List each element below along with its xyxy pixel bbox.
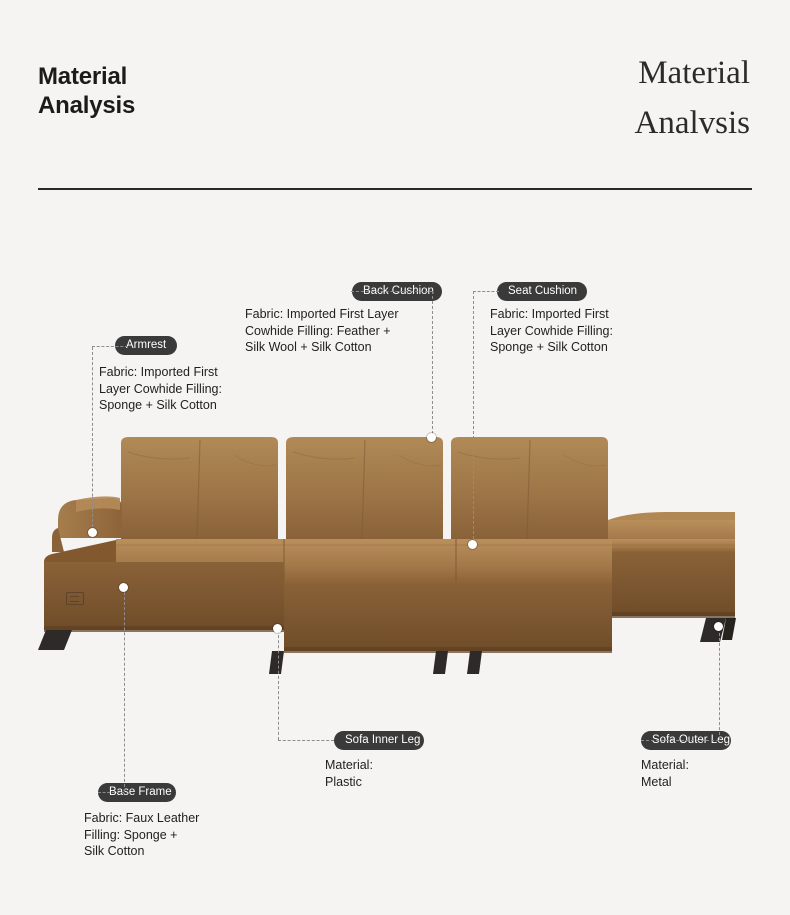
callout-desc-seat-cushion: Fabric: Imported First Layer Cowhide Fil… bbox=[490, 306, 670, 356]
page-title-left: Material Analysis bbox=[38, 62, 135, 120]
leader-dot-back-cushion bbox=[427, 433, 436, 442]
brand-logo-icon bbox=[66, 592, 84, 605]
callout-pill-seat-cushion: Seat Cushion bbox=[497, 282, 587, 301]
leader-dot-base-frame bbox=[119, 583, 128, 592]
callout-desc-sofa-outer-leg: Material: Metal bbox=[641, 757, 781, 790]
leader-line-back-cushion-vertical bbox=[432, 291, 433, 439]
leader-dot-armrest bbox=[88, 528, 97, 537]
leader-line-back-cushion-horizontal bbox=[351, 291, 433, 292]
material-analysis-page: Material Analysis Material Analvsis bbox=[0, 0, 790, 915]
leader-line-base-frame-horizontal bbox=[98, 792, 124, 793]
leader-line-seat-cushion-vertical bbox=[473, 291, 474, 544]
leader-line-sofa-outer-leg-horizontal bbox=[641, 740, 719, 741]
callout-desc-sofa-inner-leg: Material: Plastic bbox=[325, 757, 465, 790]
leader-line-seat-cushion-horizontal bbox=[473, 291, 499, 292]
header-divider bbox=[38, 188, 752, 190]
leader-line-armrest-horizontal bbox=[92, 346, 128, 347]
callout-desc-armrest: Fabric: Imported First Layer Cowhide Fil… bbox=[99, 364, 269, 414]
callout-desc-base-frame: Fabric: Faux Leather Filling: Sponge + S… bbox=[84, 810, 254, 860]
leader-dot-seat-cushion bbox=[468, 540, 477, 549]
page-title-right: Material Analvsis bbox=[430, 48, 750, 148]
leader-dot-sofa-inner-leg bbox=[273, 624, 282, 633]
callout-desc-back-cushion: Fabric: Imported First Layer Cowhide Fil… bbox=[245, 306, 430, 356]
leader-line-sofa-outer-leg-vertical bbox=[719, 628, 720, 740]
leader-line-sofa-inner-leg-vertical bbox=[278, 630, 279, 740]
leader-line-base-frame-vertical bbox=[124, 592, 125, 792]
leader-dot-sofa-outer-leg bbox=[714, 622, 723, 631]
leader-line-sofa-inner-leg-horizontal bbox=[278, 740, 334, 741]
callout-pill-sofa-inner-leg: Sofa Inner Leg bbox=[334, 731, 424, 750]
leader-line-armrest-vertical bbox=[92, 347, 93, 532]
